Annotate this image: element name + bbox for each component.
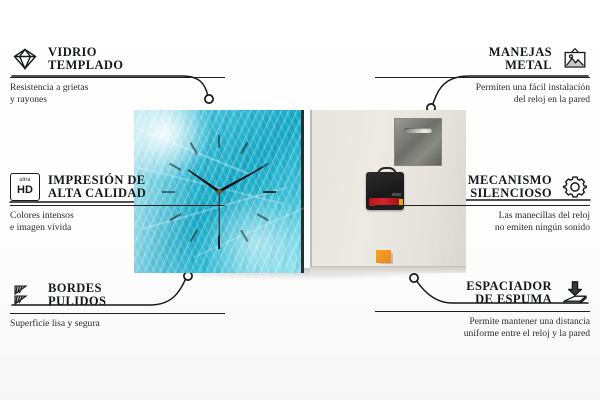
feature-subtitle: Superficie lisa y segura — [10, 318, 225, 330]
feature-handles: MANEJAS METAL Permiten una fácil instala… — [375, 44, 590, 105]
feature-title: ESPACIADOR DE ESPUMA — [466, 280, 552, 307]
feature-print: ultra HD IMPRESIÓN DE ALTA CALIDAD Color… — [10, 172, 225, 233]
divider — [375, 311, 590, 312]
feature-subtitle: Permiten una fácil instalación del reloj… — [375, 82, 590, 105]
divider — [10, 77, 225, 78]
feature-subtitle: Permite mantener una distancia uniforme … — [375, 316, 590, 339]
feature-subtitle: Colores intensos e imagen vívida — [10, 210, 225, 233]
back-panel-edge — [310, 266, 466, 273]
divider — [375, 77, 590, 78]
divider — [375, 205, 590, 206]
feature-title: MANEJAS METAL — [489, 46, 552, 73]
feature-mechanism: MECANISMO SILENCIOSO Las manecillas del … — [375, 172, 590, 233]
feature-subtitle: Resistencia a grietas y rayones — [10, 82, 225, 105]
hanging-picture-icon — [560, 44, 590, 74]
press-down-pad-icon — [560, 278, 590, 308]
feature-title: BORDES PULIDOS — [48, 282, 106, 309]
feature-title: MECANISMO SILENCIOSO — [468, 174, 552, 201]
feature-glass: VIDRIO TEMPLADO Resistencia a grietas y … — [10, 44, 225, 105]
feature-title: VIDRIO TEMPLADO — [48, 46, 123, 73]
feature-edges: BORDES PULIDOS Superficie lisa y segura — [10, 280, 225, 330]
metal-hanger-plate — [394, 118, 442, 166]
divider — [10, 313, 225, 314]
badge-hd-label: HD — [17, 185, 33, 196]
ultra-hd-badge-icon: ultra HD — [10, 172, 40, 202]
diamond-icon — [10, 44, 40, 74]
gear-icon — [560, 172, 590, 202]
badge-ultra-label: ultra — [19, 178, 30, 183]
feature-title: IMPRESIÓN DE ALTA CALIDAD — [48, 174, 146, 201]
hanger-slot — [404, 128, 432, 133]
infographic-canvas: VIDRIO TEMPLADO Resistencia a grietas y … — [0, 0, 600, 400]
feature-spacer: ESPACIADOR DE ESPUMA Permite mantener un… — [375, 278, 590, 339]
divider — [10, 205, 225, 206]
polished-edges-icon — [10, 280, 40, 310]
feature-subtitle: Las manecillas del reloj no emiten ningú… — [375, 210, 590, 233]
foam-spacer — [376, 250, 391, 263]
